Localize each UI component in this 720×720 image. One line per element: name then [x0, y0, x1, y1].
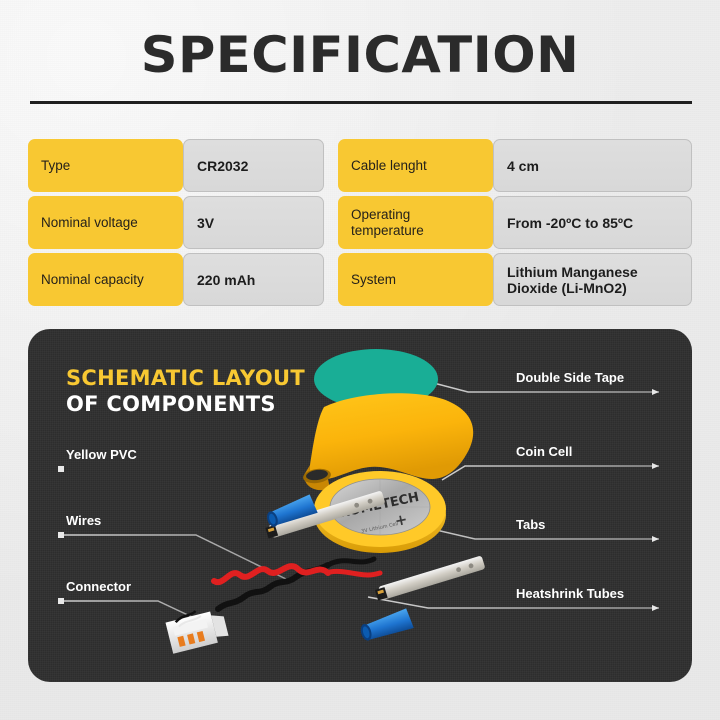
table-column-gap: [324, 253, 338, 306]
callout-label-heatshrink-tubes: Heatshrink Tubes: [516, 586, 624, 602]
spec-value-operating-temperature: From -20ºC to 85ºC: [493, 196, 692, 249]
specification-table: Type CR2032 Cable lenght 4 cm Nominal vo…: [28, 139, 692, 306]
title-divider: [30, 101, 692, 104]
schematic-panel: SCHEMATIC LAYOUT OF COMPONENTS: [28, 329, 692, 682]
page-title: SPECIFICATION: [0, 26, 720, 84]
schematic-heading-line2: OF COMPONENTS: [66, 391, 305, 417]
connector-graphic: [165, 605, 230, 654]
schematic-heading: SCHEMATIC LAYOUT OF COMPONENTS: [66, 365, 305, 417]
schematic-heading-line1: SCHEMATIC LAYOUT: [66, 365, 305, 391]
callout-label-coin-cell: Coin Cell: [516, 444, 572, 460]
spec-label-nominal-voltage: Nominal voltage: [28, 196, 183, 249]
callout-label-double-side-tape: Double Side Tape: [516, 370, 624, 386]
callout-label-wires: Wires: [66, 513, 101, 529]
spec-label-operating-temperature: Operating temperature: [338, 196, 493, 249]
tab-lower-graphic: [374, 555, 485, 601]
heatshrink-tube-lower-graphic: [358, 608, 414, 643]
spec-label-system: System: [338, 253, 493, 306]
spec-value-nominal-voltage: 3V: [183, 196, 324, 249]
spec-value-cable-length: 4 cm: [493, 139, 692, 192]
spec-value-nominal-capacity: 220 mAh: [183, 253, 324, 306]
spec-value-type: CR2032: [183, 139, 324, 192]
callout-label-yellow-pvc: Yellow PVC: [66, 447, 137, 463]
spec-label-nominal-capacity: Nominal capacity: [28, 253, 183, 306]
spec-label-type: Type: [28, 139, 183, 192]
spec-value-system: Lithium Manganese Dioxide (Li-MnO2): [493, 253, 692, 306]
table-column-gap: [324, 196, 338, 249]
table-column-gap: [324, 139, 338, 192]
spec-label-cable-length: Cable lenght: [338, 139, 493, 192]
wires-graphic: [214, 559, 380, 609]
callout-label-tabs: Tabs: [516, 517, 545, 533]
callout-label-connector: Connector: [66, 579, 131, 595]
